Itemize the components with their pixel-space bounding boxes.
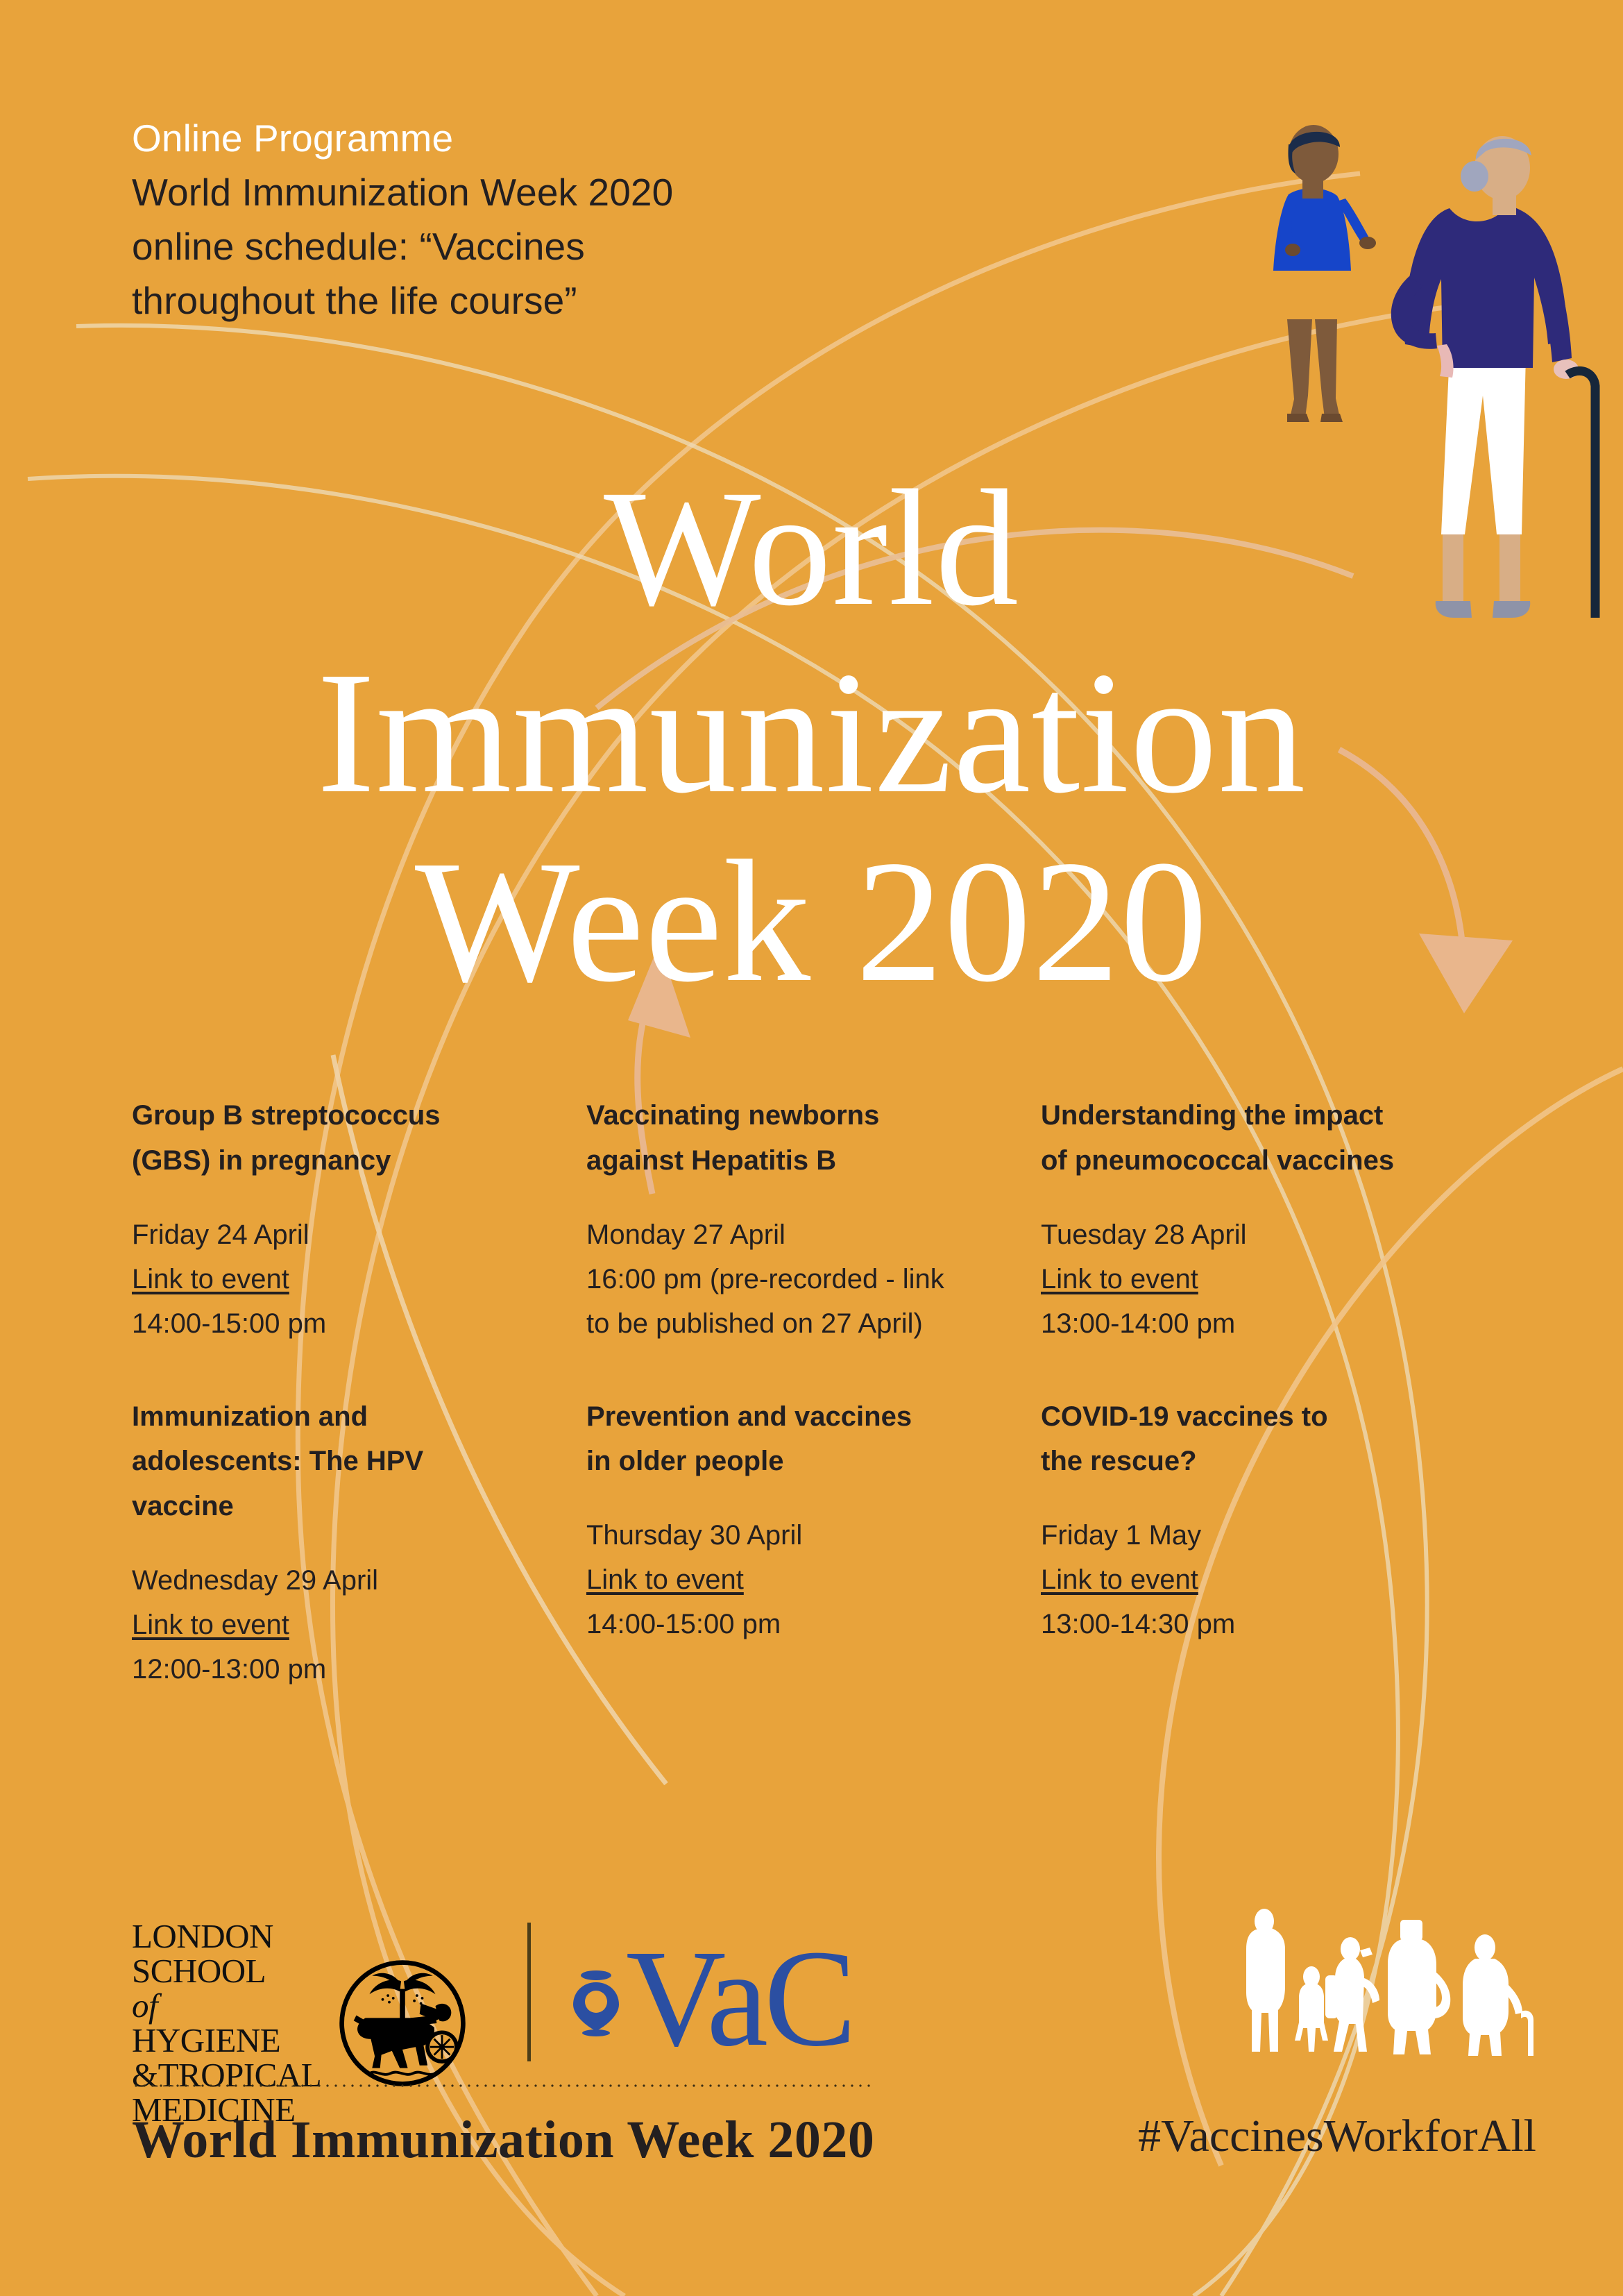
event-note-line: 16:00 pm (pre-recorded - link bbox=[586, 1257, 1013, 1301]
illustration-people-lifecourse bbox=[1231, 1909, 1550, 2068]
event-title-line: in older people bbox=[586, 1439, 1013, 1484]
event-title-line: against Hepatitis B bbox=[586, 1138, 1013, 1183]
event-date: Thursday 30 April bbox=[586, 1513, 1013, 1558]
event-title-line: vaccine bbox=[132, 1484, 559, 1529]
lshtm-word-school-of: SCHOOLof bbox=[132, 1954, 321, 2023]
event-time: 14:00-15:00 pm bbox=[586, 1602, 1013, 1646]
event-title: Prevention and vaccines in older people bbox=[586, 1394, 1013, 1485]
lshtm-wordmark: LONDON SCHOOLof HYGIENE &TROPICAL MEDICI… bbox=[132, 1919, 321, 2127]
event-title-line: Prevention and vaccines bbox=[586, 1394, 1013, 1440]
event-time: 13:00-14:00 pm bbox=[1041, 1301, 1468, 1346]
header-line-theme: throughout the life course” bbox=[132, 273, 895, 328]
title-line-2: Immunization bbox=[0, 638, 1623, 827]
event-card-older-people: Prevention and vaccines in older people … bbox=[586, 1394, 1041, 1691]
event-time: 12:00-13:00 pm bbox=[132, 1647, 559, 1691]
event-link-wrapper: Link to event bbox=[1041, 1558, 1468, 1602]
lshtm-crest-icon bbox=[337, 1957, 468, 2089]
lshtm-word-school: SCHOOL bbox=[132, 1954, 321, 1989]
logo-divider bbox=[527, 1923, 531, 2061]
event-link[interactable]: Link to event bbox=[586, 1564, 744, 1595]
event-date: Wednesday 29 April bbox=[132, 1558, 559, 1603]
header-line-week: World Immunization Week 2020 bbox=[132, 165, 895, 219]
events-grid: Group B streptococcus (GBS) in pregnancy… bbox=[132, 1093, 1513, 1691]
figure-girl bbox=[1273, 125, 1376, 422]
vac-logo: VaC bbox=[569, 1936, 852, 2061]
event-title: Group B streptococcus (GBS) in pregnancy bbox=[132, 1093, 559, 1183]
event-title-line: (GBS) in pregnancy bbox=[132, 1138, 559, 1183]
event-link-wrapper: Link to event bbox=[132, 1603, 559, 1647]
event-date: Friday 1 May bbox=[1041, 1513, 1468, 1558]
event-title-line: adolescents: The HPV bbox=[132, 1439, 559, 1484]
event-link[interactable]: Link to event bbox=[1041, 1264, 1198, 1294]
event-title-line: Understanding the impact bbox=[1041, 1093, 1468, 1138]
event-date: Monday 27 April bbox=[586, 1213, 1013, 1257]
event-link-wrapper: Link to event bbox=[586, 1558, 1013, 1602]
location-pin-icon bbox=[569, 1961, 623, 2036]
event-card-hpv: Immunization and adolescents: The HPV va… bbox=[132, 1394, 586, 1691]
poster-root: Online Programme World Immunization Week… bbox=[0, 0, 1623, 2296]
title-line-3: Week 2020 bbox=[0, 827, 1623, 1015]
event-title-line: Immunization and bbox=[132, 1394, 559, 1440]
lshtm-word-london: LONDON bbox=[132, 1919, 321, 1954]
event-link[interactable]: Link to event bbox=[132, 1264, 289, 1294]
event-time: 13:00-14:30 pm bbox=[1041, 1602, 1468, 1646]
event-time: 14:00-15:00 pm bbox=[132, 1301, 559, 1346]
event-link[interactable]: Link to event bbox=[1041, 1564, 1198, 1595]
header-block: Online Programme World Immunization Week… bbox=[132, 111, 895, 328]
event-link[interactable]: Link to event bbox=[132, 1610, 289, 1640]
page-title: World Immunization Week 2020 bbox=[0, 458, 1623, 1016]
event-link-wrapper: Link to event bbox=[132, 1257, 559, 1301]
header-line-schedule: online schedule: “Vaccines bbox=[132, 219, 895, 273]
title-line-1: World bbox=[0, 458, 1623, 638]
event-title: Vaccinating newborns against Hepatitis B bbox=[586, 1093, 1013, 1183]
event-card-pneumococcal: Understanding the impact of pneumococcal… bbox=[1041, 1093, 1495, 1346]
events-row-2: Immunization and adolescents: The HPV va… bbox=[132, 1394, 1513, 1691]
event-title-line: Vaccinating newborns bbox=[586, 1093, 1013, 1138]
hashtag-text: #VaccinesWorkforAll bbox=[1138, 2110, 1536, 2163]
event-date: Friday 24 April bbox=[132, 1213, 559, 1257]
footer: LONDON SCHOOLof HYGIENE &TROPICAL MEDICI… bbox=[0, 1902, 1623, 2263]
vac-wordmark: VaC bbox=[626, 1936, 852, 2061]
event-title-line: of pneumococcal vaccines bbox=[1041, 1138, 1468, 1183]
footer-title: World Immunization Week 2020 bbox=[132, 2110, 874, 2170]
event-title: Immunization and adolescents: The HPV va… bbox=[132, 1394, 559, 1529]
event-title-line: Group B streptococcus bbox=[132, 1093, 559, 1138]
event-note-line: to be published on 27 April) bbox=[586, 1301, 1013, 1346]
events-row-1: Group B streptococcus (GBS) in pregnancy… bbox=[132, 1093, 1513, 1346]
event-title: Understanding the impact of pneumococcal… bbox=[1041, 1093, 1468, 1183]
header-line-programme: Online Programme bbox=[132, 111, 895, 165]
dotted-divider bbox=[132, 2084, 874, 2088]
event-card-gbs: Group B streptococcus (GBS) in pregnancy… bbox=[132, 1093, 586, 1346]
event-card-covid19: COVID-19 vaccines to the rescue? Friday … bbox=[1041, 1394, 1495, 1691]
event-title-line: the rescue? bbox=[1041, 1439, 1468, 1484]
lshtm-word-hygiene: HYGIENE bbox=[132, 2023, 321, 2058]
lshtm-word-of: of bbox=[132, 1989, 321, 2023]
event-link-wrapper: Link to event bbox=[1041, 1257, 1468, 1301]
event-date: Tuesday 28 April bbox=[1041, 1213, 1468, 1257]
event-title: COVID-19 vaccines to the rescue? bbox=[1041, 1394, 1468, 1485]
lshtm-logo: LONDON SCHOOLof HYGIENE &TROPICAL MEDICI… bbox=[132, 1919, 468, 2127]
event-title-line: COVID-19 vaccines to bbox=[1041, 1394, 1468, 1440]
event-card-hepb: Vaccinating newborns against Hepatitis B… bbox=[586, 1093, 1041, 1346]
